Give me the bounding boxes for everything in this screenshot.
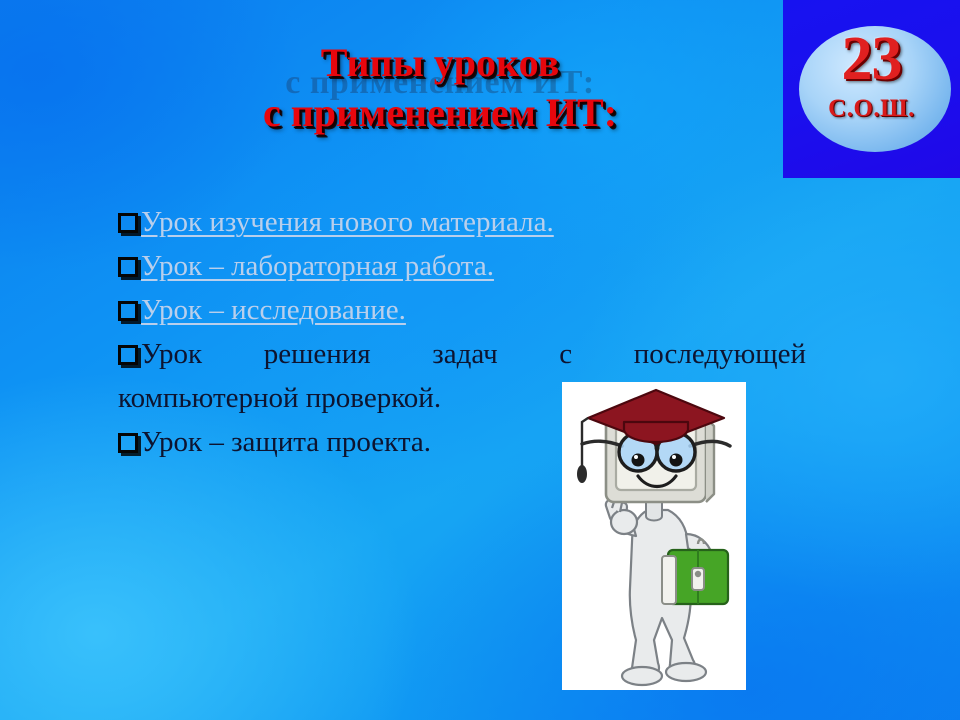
list-item-label-line2: компьютерной проверкой.: [118, 382, 441, 414]
list-item-label[interactable]: Урок изучения нового материала.: [141, 206, 554, 238]
badge-subtitle: С.О.Ш.: [783, 96, 960, 121]
school-badge: 23 С.О.Ш.: [783, 0, 960, 178]
list-item-label[interactable]: Урок – лабораторная работа.: [141, 250, 494, 282]
page-title: Типы уроков с применением ИТ:: [100, 38, 780, 138]
square-bullet-icon: [118, 257, 138, 277]
square-bullet-icon: [118, 433, 138, 453]
square-bullet-icon: [118, 345, 138, 365]
list-item-label: Урок – защита проекта.: [141, 426, 431, 458]
list-item-label[interactable]: Урок – исследование.: [141, 294, 406, 326]
list-item[interactable]: Урок – лабораторная работа.: [118, 244, 818, 288]
list-item-label-line1: Урок решения задач с последующей: [118, 332, 806, 376]
slide-canvas: 23 С.О.Ш. с применением ИТ: Типы уроков …: [0, 0, 960, 720]
badge-number: 23: [783, 28, 960, 90]
list-item[interactable]: Урок – исследование.: [118, 288, 818, 332]
square-bullet-icon: [118, 213, 138, 233]
square-bullet-icon: [118, 301, 138, 321]
computer-graduate-character-icon: [562, 382, 746, 690]
clipart-image: [562, 382, 746, 690]
list-item[interactable]: Урок изучения нового материала.: [118, 200, 818, 244]
slide-title-block: с применением ИТ: Типы уроков с применен…: [100, 38, 780, 138]
